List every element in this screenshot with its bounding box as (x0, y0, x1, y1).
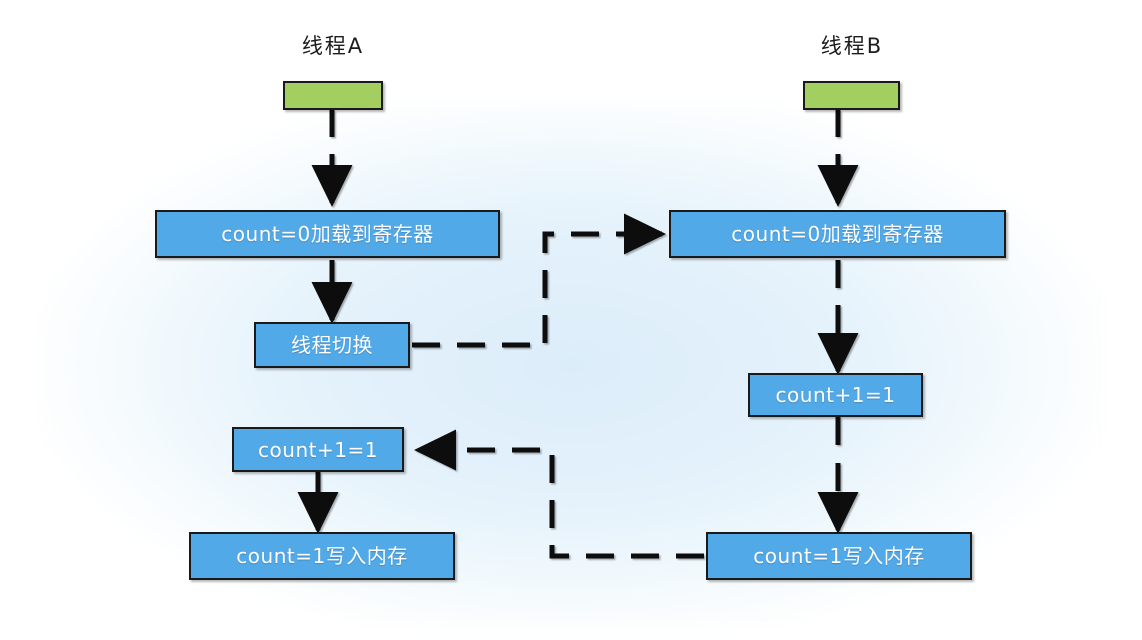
node-b-store-label: count=1写入内存 (753, 546, 924, 566)
node-a-inc[interactable]: count+1=1 (232, 427, 404, 472)
node-b-start[interactable] (803, 81, 900, 110)
node-a-switch-label: 线程切换 (291, 335, 373, 355)
node-b-store[interactable]: count=1写入内存 (706, 532, 972, 580)
node-a-start[interactable] (283, 81, 383, 110)
node-b-inc-label: count+1=1 (776, 385, 896, 405)
node-a-store-label: count=1写入内存 (236, 546, 407, 566)
diagram-canvas: 线程A 线程B count=0加载到寄存器 线程切换 count+1=1 cou… (0, 0, 1142, 640)
node-a-load[interactable]: count=0加载到寄存器 (155, 210, 500, 258)
node-a-inc-label: count+1=1 (258, 440, 378, 460)
node-b-load-label: count=0加载到寄存器 (731, 224, 943, 244)
node-b-inc[interactable]: count+1=1 (748, 373, 923, 417)
node-b-load[interactable]: count=0加载到寄存器 (669, 210, 1006, 258)
node-a-store[interactable]: count=1写入内存 (189, 532, 455, 580)
column-title-thread-a: 线程A (268, 30, 398, 60)
node-a-switch[interactable]: 线程切换 (254, 322, 410, 368)
column-title-thread-b: 线程B (787, 30, 917, 60)
edge-b-store-to-a-inc (418, 450, 704, 556)
node-a-load-label: count=0加载到寄存器 (221, 224, 433, 244)
